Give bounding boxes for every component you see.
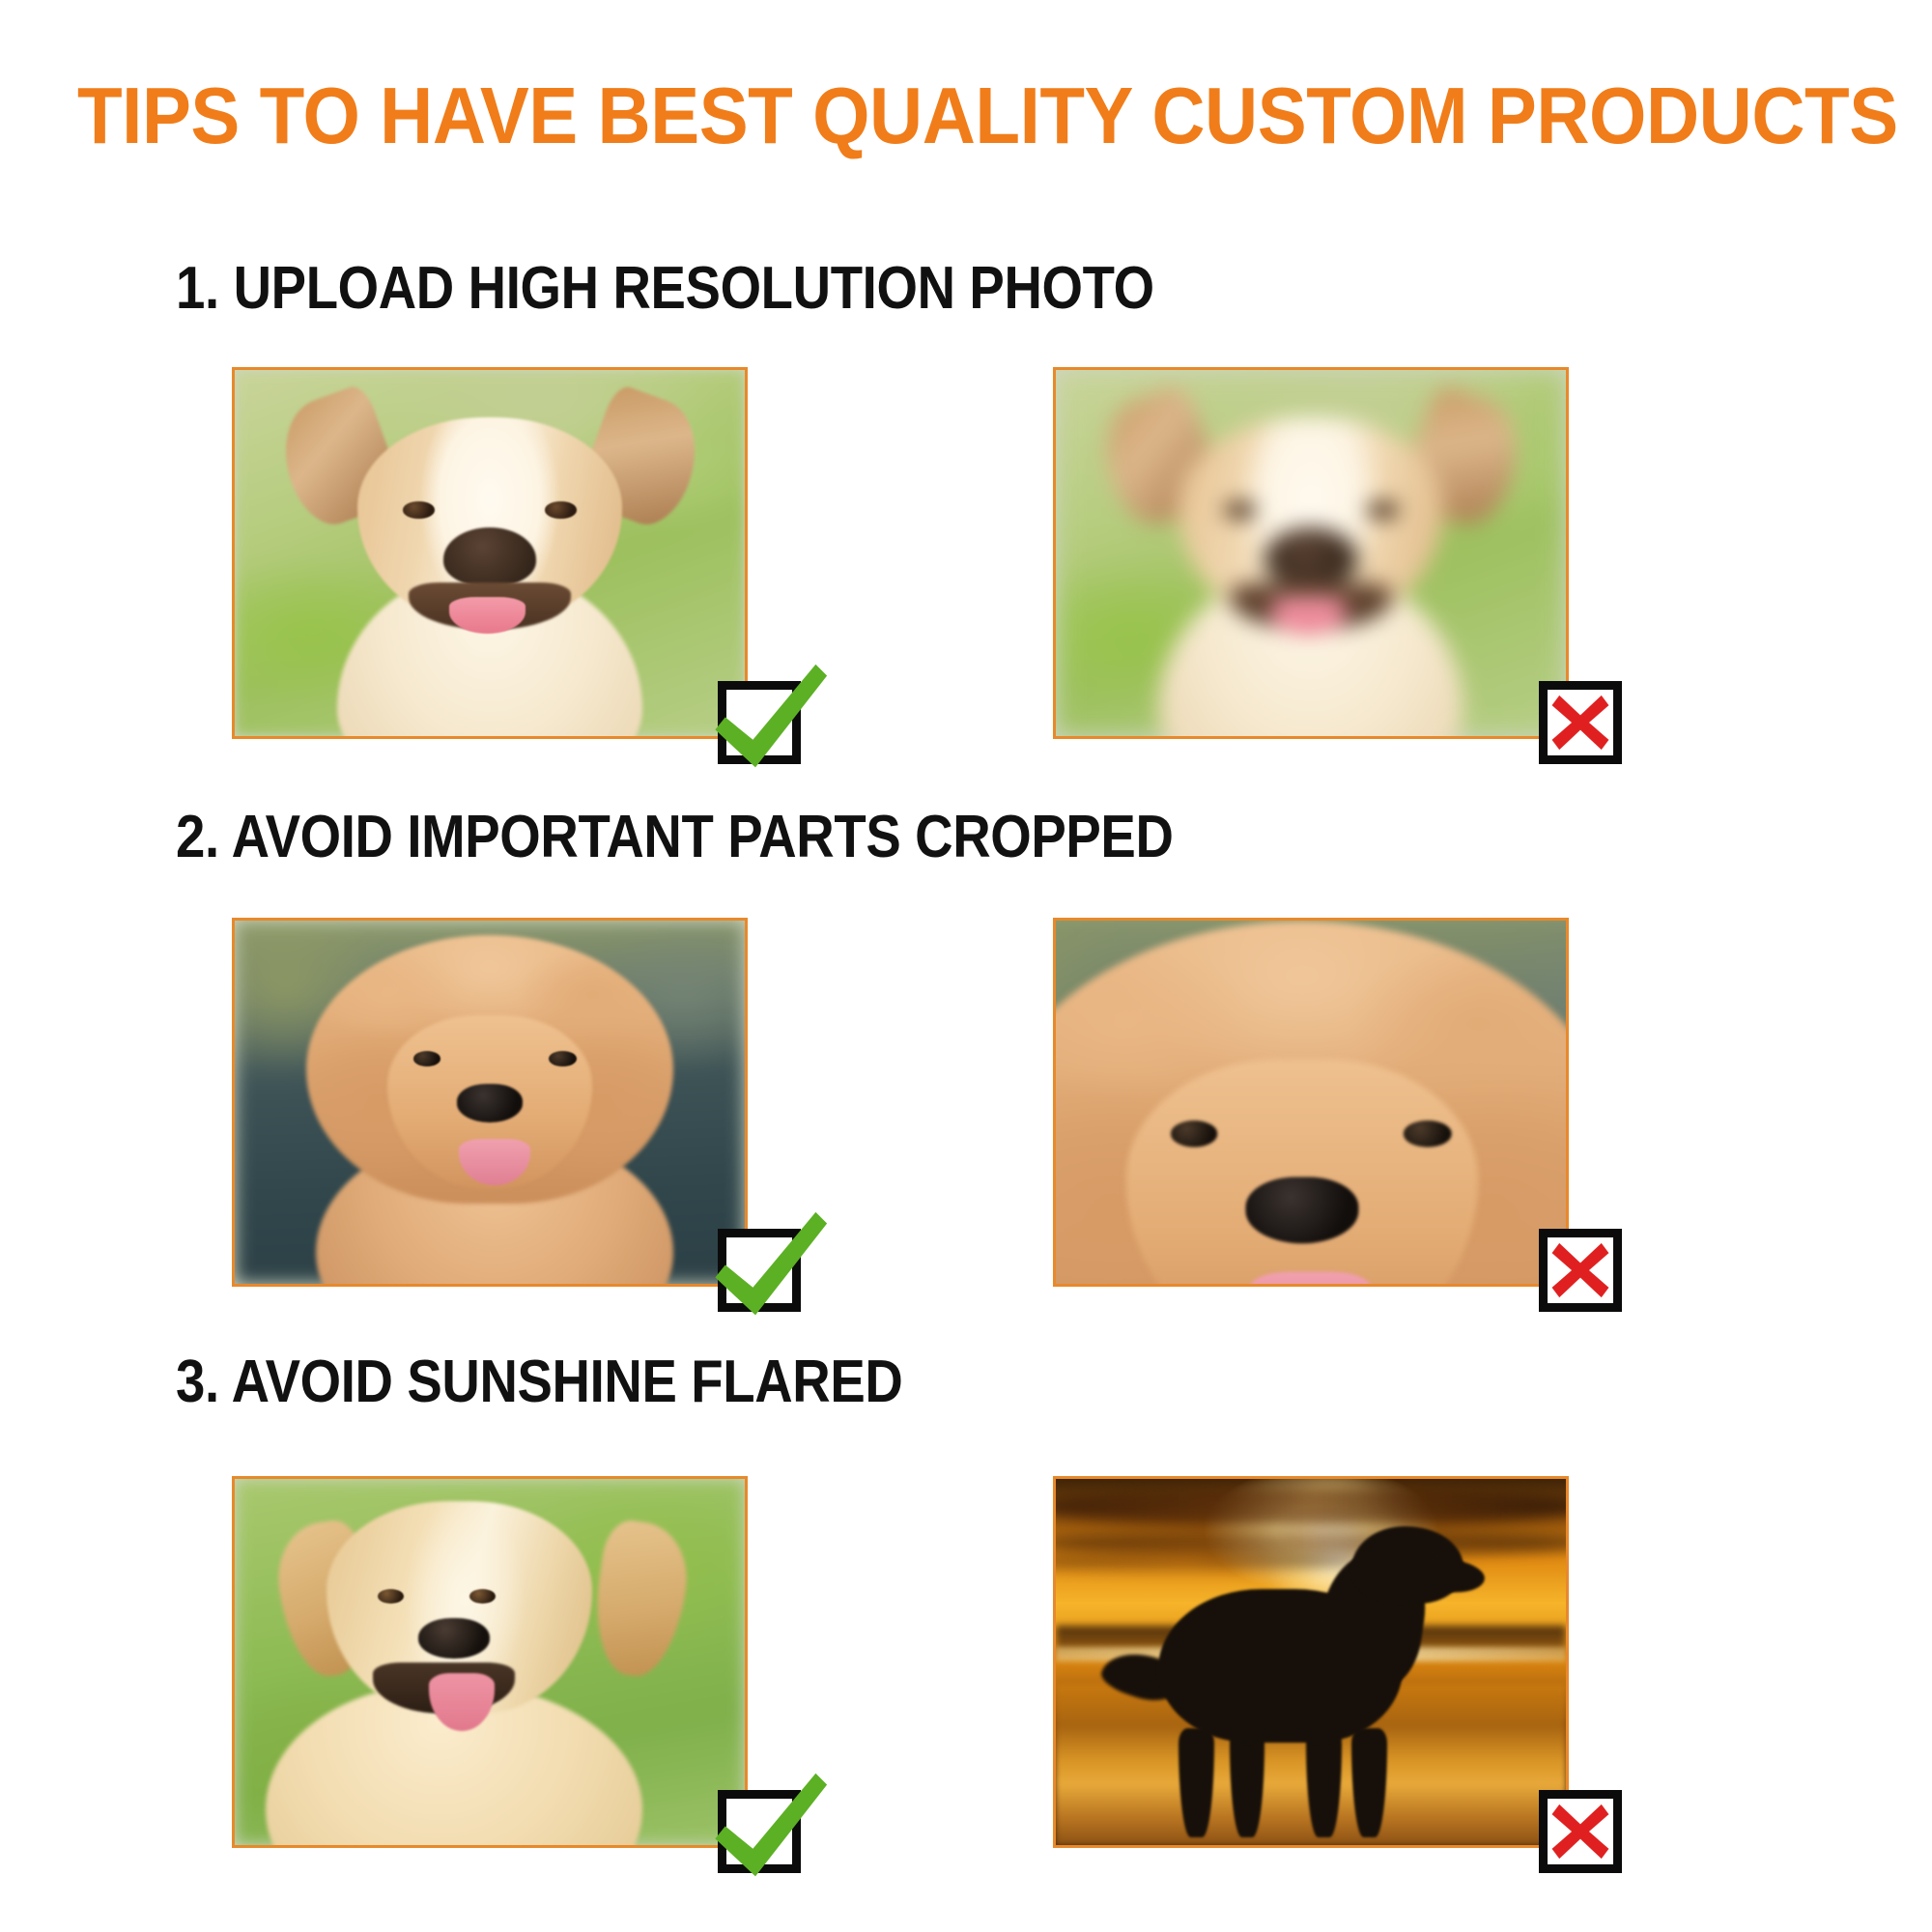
cockapoo-illustration [1053,918,1569,1287]
golden-retriever-illustration [235,1479,745,1845]
page-title: TIPS TO HAVE BEST QUALITY CUSTOM PRODUCT… [77,75,1855,156]
cockapoo-illustration [235,921,745,1284]
corgi-eye-right [1366,501,1398,518]
corgi-eye-right [545,501,577,518]
retriever-ear-right [586,1518,694,1682]
photo-bad-1 [1053,367,1569,739]
sunset-silhouette-scene [1056,1479,1566,1845]
section-heading-3: 3. AVOID SUNSHINE FLARED [176,1352,902,1412]
check-icon [718,1790,801,1873]
cockapoo-eye-right [1404,1122,1451,1148]
section-heading-1: 1. UPLOAD HIGH RESOLUTION PHOTO [176,259,1154,319]
photo-good-2 [232,918,748,1287]
cross-icon [1539,681,1622,764]
cloud-band [1053,1487,1569,1527]
golden-retriever-scene [235,1479,745,1845]
cross-icon [1539,1229,1622,1312]
photo-good-3 [232,1476,748,1848]
corgi-blurry-scene [1056,370,1566,736]
cockapoo-eye-right [549,1051,577,1066]
cockapoo-cropped-scene [1056,921,1566,1284]
retriever-nose [418,1618,490,1659]
silhouette-leg [1306,1728,1342,1838]
cockapoo-nose [1245,1178,1359,1243]
photo-good-1 [232,367,748,739]
retriever-eye-right [469,1589,496,1604]
cloud-band [1053,1552,1362,1571]
check-icon [718,681,801,764]
cockapoo-face [1126,1059,1477,1287]
cockapoo-full-scene [235,921,745,1284]
silhouette-leg [1179,1728,1214,1838]
infographic-page: TIPS TO HAVE BEST QUALITY CUSTOM PRODUCT… [0,0,1932,1932]
corgi-illustration [1056,370,1566,736]
corgi-sharp-scene [235,370,745,736]
corgi-eye-left [1224,501,1256,518]
photo-bad-2 [1053,918,1569,1287]
corgi-nose [443,527,535,586]
corgi-illustration [235,370,745,736]
cross-icon [1539,1790,1622,1873]
corgi-nose [1264,527,1356,586]
section-heading-2: 2. AVOID IMPORTANT PARTS CROPPED [176,808,1174,867]
photo-bad-3 [1053,1476,1569,1848]
check-icon [718,1229,801,1312]
cockapoo-nose [457,1084,524,1122]
retriever-eye-left [378,1589,404,1604]
corgi-eye-left [403,501,435,518]
